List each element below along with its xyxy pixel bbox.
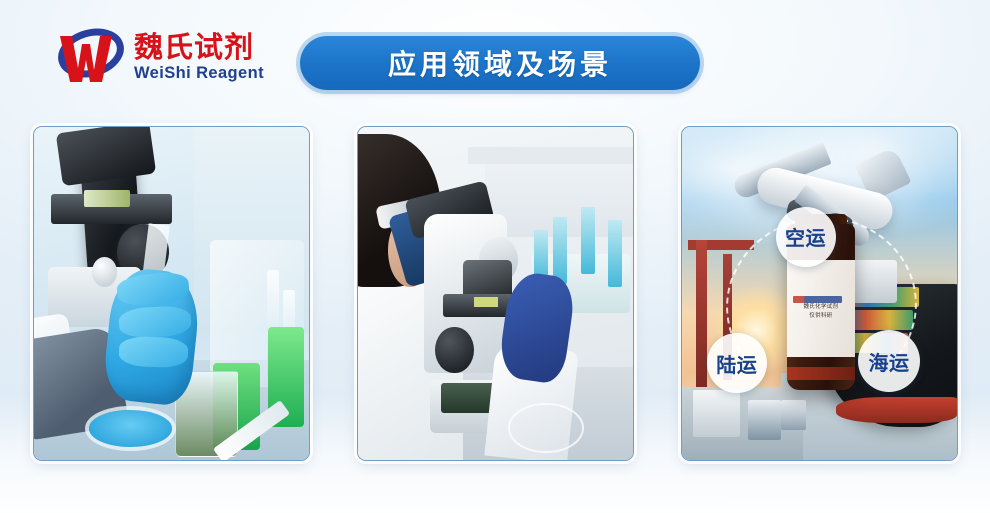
scene-bio-lab-photo — [34, 127, 309, 460]
page-title-banner: 应用领域及场景 — [300, 36, 700, 90]
cargo-truck — [693, 390, 740, 437]
brand-logo-text: 魏氏试剂 WeiShi Reagent — [134, 33, 264, 82]
brand-name-en: WeiShi Reagent — [134, 65, 264, 82]
microscope-head — [55, 127, 155, 187]
petri-dish — [89, 410, 172, 447]
ship-hull-stripe — [836, 397, 957, 424]
card-lab-testing-analysis[interactable] — [357, 126, 634, 461]
bottle-label-line-2: 仅供科研 — [809, 313, 832, 321]
test-tube — [581, 207, 595, 274]
lab-tubing — [508, 403, 584, 454]
microscope-slide — [84, 190, 131, 207]
brand-logo: 魏氏试剂 WeiShi Reagent — [52, 22, 284, 92]
page-title: 应用领域及场景 — [388, 43, 612, 83]
focus-knob — [435, 327, 474, 374]
lab-shelf — [468, 147, 633, 164]
specimen-slide — [474, 297, 499, 307]
glove-finger — [119, 336, 189, 368]
badge-air-freight-label: 空运 — [785, 222, 826, 251]
badge-sea-freight: 海运 — [858, 330, 920, 392]
microscope-knob — [92, 257, 117, 287]
card-bio-project-development[interactable] — [33, 126, 310, 461]
reagent-bottle-label: 魏氏化学试剂 仅供科研 — [787, 260, 856, 357]
application-cards: 魏氏化学试剂 仅供科研 空运 陆运 海运 生物项目开发 实验检测分析 — [0, 126, 990, 466]
w-swoosh-logo-icon — [52, 26, 124, 88]
port-crane — [696, 240, 707, 387]
cargo-truck — [748, 400, 781, 440]
bottle-brand-logo-icon — [793, 296, 843, 303]
badge-sea-freight-label: 海运 — [869, 347, 910, 376]
test-tube — [553, 217, 567, 284]
card-export-trade[interactable]: 魏氏化学试剂 仅供科研 空运 陆运 海运 — [681, 126, 958, 461]
badge-land-freight-label: 陆运 — [716, 349, 757, 378]
scene-logistics-photo: 魏氏化学试剂 仅供科研 空运 陆运 海运 — [682, 127, 957, 460]
badge-air-freight: 空运 — [776, 207, 836, 267]
slide-canvas: 魏氏试剂 WeiShi Reagent 应用领域及场景 — [0, 0, 990, 513]
scene-microscope-researcher-photo — [358, 127, 633, 460]
bottle-label-stripe — [787, 367, 856, 380]
bottle-label-line-1: 魏氏化学试剂 — [803, 304, 838, 312]
brand-name-cn: 魏氏试剂 — [134, 33, 264, 62]
cargo-truck — [781, 400, 806, 430]
badge-land-freight: 陆运 — [707, 333, 767, 393]
test-tube — [608, 220, 622, 287]
